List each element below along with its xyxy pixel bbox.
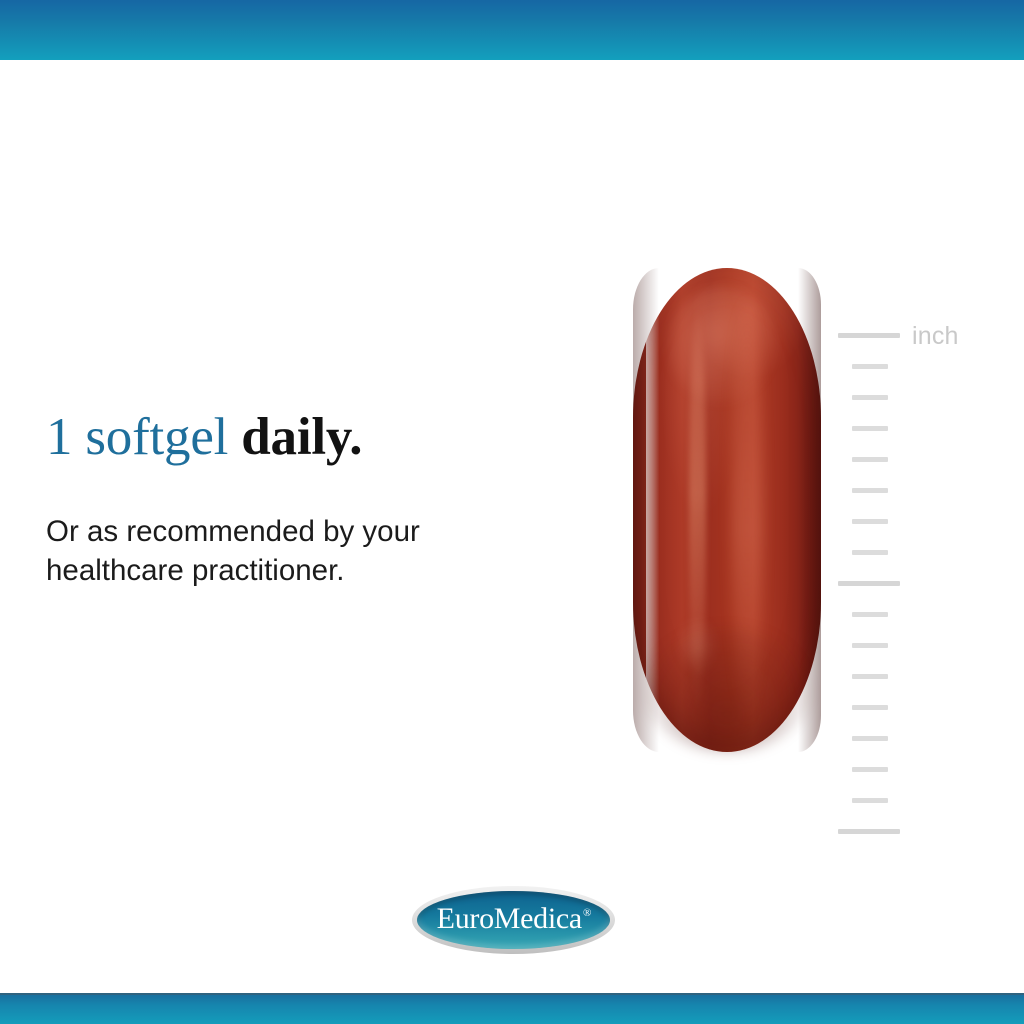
dosage-copy-block: 1 softgel daily. Or as recommended by yo… [46, 410, 546, 590]
ruler-tick-major [838, 581, 900, 586]
ruler-tick-minor [852, 519, 888, 524]
headline-strong-text: daily. [228, 408, 362, 466]
ruler-tick-minor [852, 674, 888, 679]
ruler-tick-minor [852, 426, 888, 431]
ruler-tick-major [838, 333, 900, 338]
softgel-capsule-image [633, 268, 821, 752]
inch-ruler: inch [838, 268, 988, 788]
ruler-tick-minor [852, 488, 888, 493]
ruler-unit-label: inch [912, 322, 959, 351]
ruler-tick-minor [852, 705, 888, 710]
euromedica-logo: EuroMedica® [412, 886, 615, 954]
headline-accent-text: 1 softgel [46, 408, 228, 466]
ruler-tick-minor [852, 643, 888, 648]
ruler-tick-minor [852, 767, 888, 772]
logo-wordmark: EuroMedica [437, 902, 582, 936]
registered-trademark-icon: ® [583, 907, 591, 919]
ruler-tick-major [838, 829, 900, 834]
ruler-tick-minor [852, 457, 888, 462]
ruler-tick-minor [852, 395, 888, 400]
capsule-bottom-shading [644, 626, 809, 752]
ruler-tick-minor [852, 798, 888, 803]
page-title: 1 softgel daily. [46, 410, 546, 466]
ruler-tick-minor [852, 736, 888, 741]
ruler-tick-minor [852, 612, 888, 617]
top-brand-bar [0, 0, 1024, 60]
ruler-tick-minor [852, 364, 888, 369]
capsule-body [633, 268, 821, 752]
dosage-subtext: Or as recommended by your healthcare pra… [46, 512, 486, 590]
logo-oval: EuroMedica® [417, 891, 610, 949]
ruler-tick-minor [852, 550, 888, 555]
bottom-brand-bar [0, 993, 1024, 1024]
product-canvas: 1 softgel daily. Or as recommended by yo… [0, 60, 1024, 993]
